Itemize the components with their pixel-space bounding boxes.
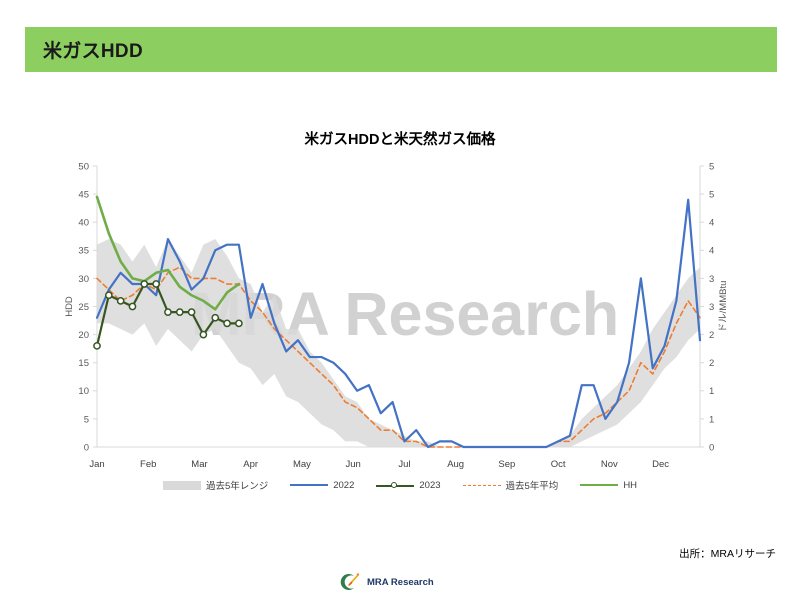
x-axis-tick-label: Oct xyxy=(551,459,566,470)
y-axis-tick-label: 50 xyxy=(78,161,89,172)
y2-axis-tick-label: 4 xyxy=(709,218,714,229)
x-axis-tick-label: Nov xyxy=(601,459,618,470)
x-axis-tick-label: Apr xyxy=(243,459,258,470)
y2-axis-tick-label: 3 xyxy=(709,274,714,285)
x-axis-tick-label: Mar xyxy=(191,459,207,470)
y-axis-title: HDD xyxy=(64,296,75,317)
x-axis-tick-label: Dec xyxy=(652,459,669,470)
legend-label: 2023 xyxy=(419,480,440,491)
x-axis-tick-label: May xyxy=(293,459,311,470)
chart-title: 米ガスHDDと米天然ガス価格 xyxy=(0,128,800,149)
mra-logo: MRA Research xyxy=(340,572,434,592)
chart-svg: MRA Research0510152025303540455001122334… xyxy=(0,150,800,510)
legend-item-average[interactable]: 過去5年平均 xyxy=(463,478,559,492)
header-banner: 米ガスHDD xyxy=(25,27,777,72)
source-note: 出所：MRAリサーチ xyxy=(679,546,776,561)
series-2023-marker xyxy=(224,320,230,326)
x-axis-tick-label: Jan xyxy=(89,459,104,470)
y-axis-tick-label: 25 xyxy=(78,302,89,313)
legend-label: 2022 xyxy=(333,480,354,491)
slide-root: 米ガスHDD 米ガスHDDと米天然ガス価格 MRA Research051015… xyxy=(0,0,800,600)
chart-canvas: MRA Research0510152025303540455001122334… xyxy=(0,150,800,510)
y-axis-tick-label: 15 xyxy=(78,358,89,369)
y-axis-tick-label: 0 xyxy=(84,442,89,453)
series-2023-marker xyxy=(212,315,218,321)
y2-axis-tick-label: 5 xyxy=(709,190,714,201)
y-axis-tick-label: 30 xyxy=(78,274,89,285)
legend-label: 過去5年レンジ xyxy=(206,478,268,492)
series-2023-marker xyxy=(118,298,124,304)
y2-axis-tick-label: 3 xyxy=(709,302,714,313)
legend-label: 過去5年平均 xyxy=(506,478,559,492)
y2-axis-tick-label: 1 xyxy=(709,414,714,425)
legend-swatch-dashed-line xyxy=(463,485,501,486)
y-axis-tick-label: 45 xyxy=(78,190,89,201)
series-2023-marker xyxy=(188,309,194,315)
series-2023-marker xyxy=(129,303,135,309)
y-axis-tick-label: 20 xyxy=(78,330,89,341)
y-axis-tick-label: 35 xyxy=(78,246,89,257)
legend-item-range[interactable]: 過去5年レンジ xyxy=(163,478,268,492)
y-axis-tick-label: 40 xyxy=(78,218,89,229)
legend-item-2023[interactable]: 2023 xyxy=(376,480,440,491)
legend-swatch-line-marker xyxy=(376,481,414,490)
y2-axis-title: ドル/MMBtu xyxy=(718,281,729,333)
x-axis-tick-label: Sep xyxy=(498,459,515,470)
y-axis-tick-label: 5 xyxy=(84,414,89,425)
y-axis-tick-label: 10 xyxy=(78,386,89,397)
series-2023-marker xyxy=(141,281,147,287)
legend-swatch-band xyxy=(163,481,201,490)
y2-axis-tick-label: 0 xyxy=(709,442,714,453)
mra-logo-icon xyxy=(340,572,362,592)
x-axis-tick-label: Jul xyxy=(398,459,410,470)
legend-label: HH xyxy=(623,480,637,491)
x-axis-tick-label: Aug xyxy=(447,459,464,470)
y2-axis-tick-label: 2 xyxy=(709,330,714,341)
series-2023-marker xyxy=(200,332,206,338)
x-axis-tick-label: Feb xyxy=(140,459,156,470)
series-2023-marker xyxy=(106,292,112,298)
chart-legend: 過去5年レンジ20222023過去5年平均HH xyxy=(0,478,800,492)
mra-logo-text: MRA Research xyxy=(367,577,434,588)
legend-swatch-line xyxy=(290,484,328,486)
series-2023-marker xyxy=(94,343,100,349)
series-2023-marker xyxy=(177,309,183,315)
series-2023-marker xyxy=(165,309,171,315)
y2-axis-tick-label: 1 xyxy=(709,386,714,397)
y2-axis-tick-label: 4 xyxy=(709,246,714,257)
page-title: 米ガスHDD xyxy=(43,36,143,63)
x-axis-tick-label: Jun xyxy=(346,459,361,470)
y2-axis-tick-label: 5 xyxy=(709,161,714,172)
series-2023-marker xyxy=(153,281,159,287)
legend-item-2022[interactable]: 2022 xyxy=(290,480,354,491)
y2-axis-tick-label: 2 xyxy=(709,358,714,369)
legend-item-hh[interactable]: HH xyxy=(580,480,637,491)
series-2023-marker xyxy=(236,320,242,326)
legend-swatch-line xyxy=(580,484,618,486)
